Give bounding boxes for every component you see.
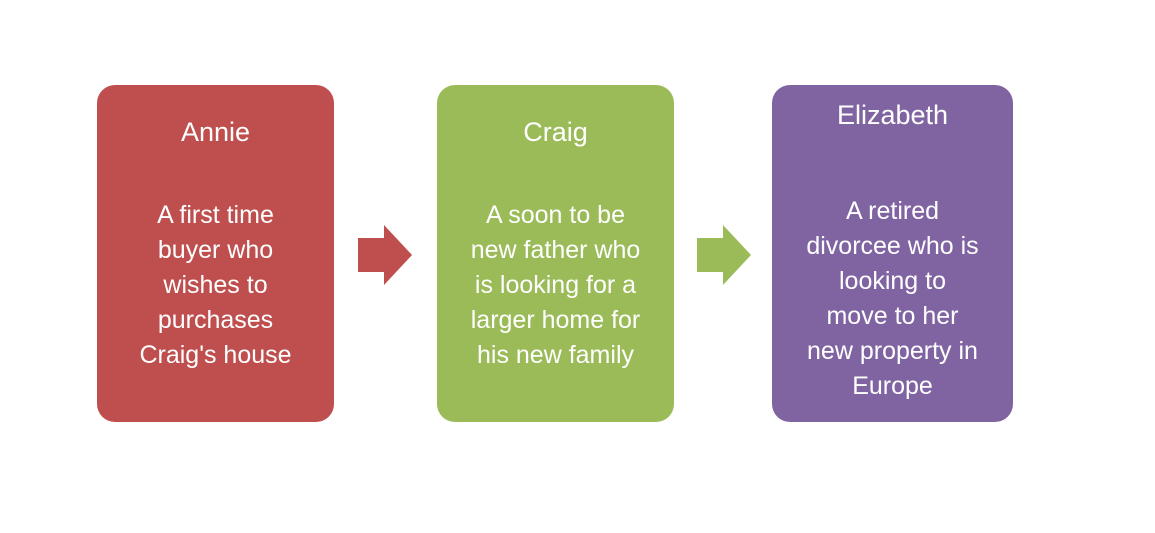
- persona-description-line: new property in: [780, 334, 1005, 369]
- persona-card-elizabeth[interactable]: Elizabeth A retired divorcee who is look…: [772, 85, 1013, 422]
- persona-description-line: Craig's house: [105, 338, 326, 373]
- persona-description-line: purchases: [105, 303, 326, 338]
- persona-card-craig[interactable]: Craig A soon to be new father who is loo…: [437, 85, 674, 422]
- persona-description-line: wishes to: [105, 268, 326, 303]
- diagram-canvas: Annie A first time buyer who wishes to p…: [0, 0, 1155, 533]
- persona-description-line: Europe: [780, 369, 1005, 404]
- persona-description-line: A retired: [780, 194, 1005, 229]
- persona-description-line: larger home for: [445, 303, 666, 338]
- persona-description-line: is looking for a: [445, 268, 666, 303]
- persona-description-line: new father who: [445, 233, 666, 268]
- persona-description-line: A first time: [105, 198, 326, 233]
- persona-title-elizabeth: Elizabeth: [837, 98, 948, 132]
- persona-description-line: his new family: [445, 338, 666, 373]
- persona-description-line: buyer who: [105, 233, 326, 268]
- persona-card-annie[interactable]: Annie A first time buyer who wishes to p…: [97, 85, 334, 422]
- persona-title-craig: Craig: [523, 115, 588, 149]
- flow-arrow-right-icon: [697, 225, 751, 285]
- persona-title-annie: Annie: [181, 115, 250, 149]
- persona-description-line: divorcee who is: [780, 229, 1005, 264]
- persona-description-line: A soon to be: [445, 198, 666, 233]
- persona-description-line: move to her: [780, 299, 1005, 334]
- persona-description-line: looking to: [780, 264, 1005, 299]
- arrow-right-icon: [358, 225, 412, 285]
- persona-description-craig: A soon to be new father who is looking f…: [445, 198, 666, 373]
- persona-description-elizabeth: A retired divorcee who is looking to mov…: [780, 194, 1005, 404]
- arrow-right-icon: [697, 225, 751, 285]
- persona-description-annie: A first time buyer who wishes to purchas…: [105, 198, 326, 373]
- flow-arrow-right-icon: [358, 225, 412, 285]
